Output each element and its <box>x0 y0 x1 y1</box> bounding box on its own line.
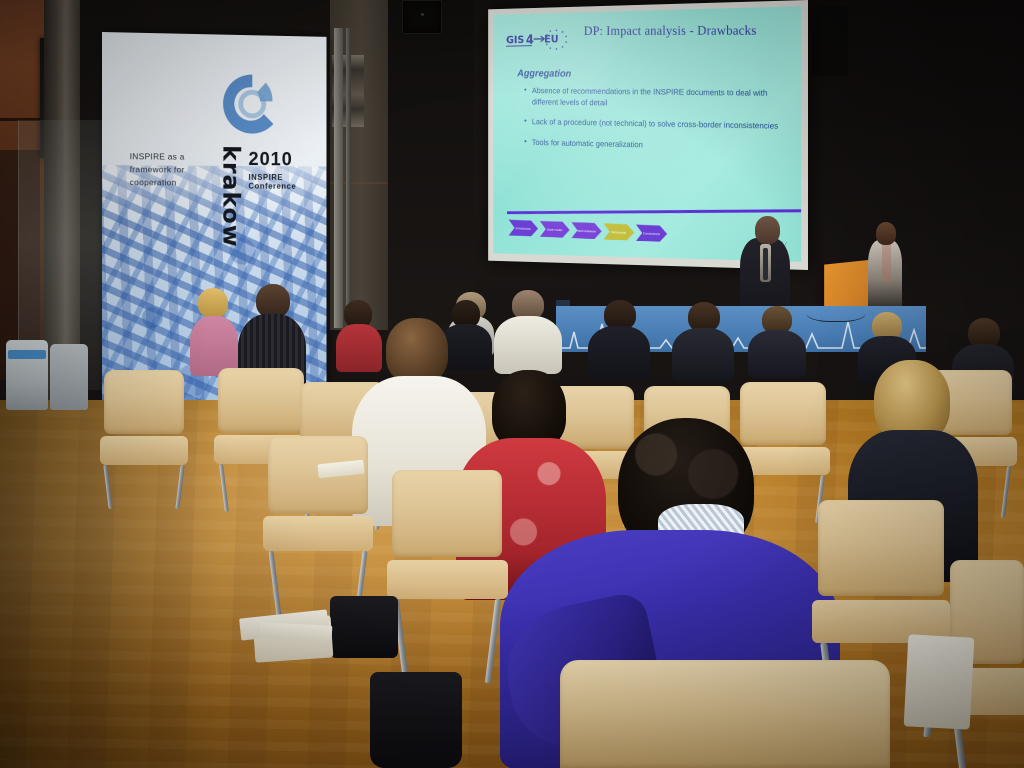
slide-bullet-text: Lack of a procedure (not technical) to s… <box>532 116 784 132</box>
chevron-label: Conclusions <box>643 231 660 236</box>
chevron-step: Web portal <box>603 223 634 241</box>
stage-cable <box>806 300 866 322</box>
slide-process-chevrons: Introduction Data model Harmonisation We… <box>509 220 667 243</box>
bag-under-chair <box>330 596 398 658</box>
backpack <box>370 672 462 768</box>
bullet-marker-icon: • <box>524 85 526 108</box>
slide-bullet: • Tools for automatic generalization <box>524 136 783 154</box>
slide-title: DP: Impact analysis - Drawbacks <box>584 23 794 39</box>
torso <box>190 316 238 376</box>
svg-text:GIS: GIS <box>506 34 524 46</box>
person-right-back-a <box>748 306 806 376</box>
slide-bullet-list: • Absence of recommendations in the INSP… <box>524 85 783 163</box>
person-dark-jacket-mid <box>588 300 650 376</box>
chevron-step: Conclusions <box>636 225 667 243</box>
dark-wall-column <box>388 0 474 340</box>
slide-bullet-text: Tools for automatic generalization <box>532 136 784 153</box>
presenter-head <box>755 216 780 244</box>
trash-bin-secondary <box>50 344 88 410</box>
chair-back <box>560 660 890 768</box>
banner-city: krakow <box>218 145 245 248</box>
gis4eu-logo-icon: GIS 4 EU <box>505 28 573 54</box>
ceiling-speaker-icon <box>402 0 442 34</box>
chevron-label: Harmonisation <box>577 228 596 233</box>
head <box>256 284 290 318</box>
chair-seat <box>263 516 373 551</box>
slide-bullet-text: Absence of recommendations in the INSPIR… <box>532 85 784 112</box>
chevron-step: Data model <box>540 221 570 238</box>
chair <box>268 436 368 570</box>
tote-bag-right <box>904 634 975 729</box>
chevron-step: Introduction <box>509 220 538 237</box>
assistant-head <box>876 222 896 245</box>
slide-divider-rule <box>507 209 801 214</box>
svg-text:4: 4 <box>526 32 534 47</box>
torso <box>494 316 562 374</box>
chair-back <box>392 470 502 557</box>
chevron-label: Introduction <box>516 226 531 230</box>
person-suit-right-mid <box>672 302 734 378</box>
bullet-marker-icon: • <box>524 116 526 127</box>
banner-pole <box>334 28 343 328</box>
chair <box>392 470 502 620</box>
torso <box>748 330 806 378</box>
chair <box>560 660 890 768</box>
conference-photo: GIS 4 EU DP: Impact analysis - Drawba <box>0 0 1024 768</box>
chair <box>104 370 184 480</box>
presenter-tie <box>763 248 768 280</box>
chair-back <box>104 370 184 434</box>
chevron-label: Data model <box>547 227 562 231</box>
right-speaker-icon <box>812 6 848 76</box>
slide-bullet: • Absence of recommendations in the INSP… <box>524 85 783 112</box>
bullet-marker-icon: • <box>524 136 526 147</box>
head <box>386 318 448 384</box>
head <box>198 288 228 318</box>
banner-top-fade <box>102 32 327 222</box>
chair-seat <box>387 560 508 599</box>
banner-tagline: INSPIRE as a framework for cooperation <box>130 150 220 190</box>
banner-pole-secondary <box>346 28 351 318</box>
person-blonde-pink-top <box>190 288 238 378</box>
slide-bullet: • Lack of a procedure (not technical) to… <box>524 116 783 132</box>
inspire-swirl-logo-icon <box>218 68 287 140</box>
assistant-scarf <box>882 242 891 282</box>
torso <box>672 328 734 382</box>
chevron-label: Web portal <box>611 230 626 234</box>
slide-section-heading: Aggregation <box>517 68 571 80</box>
chair-seat <box>100 436 188 465</box>
banner-event-name: INSPIRE Conference <box>248 173 326 191</box>
chair-back <box>218 368 304 433</box>
trash-bin <box>6 340 48 410</box>
person-white-shirt-man <box>494 290 562 370</box>
chevron-step: Harmonisation <box>571 222 601 239</box>
chair-back <box>818 500 944 596</box>
banner-year: 2010 <box>248 149 292 171</box>
